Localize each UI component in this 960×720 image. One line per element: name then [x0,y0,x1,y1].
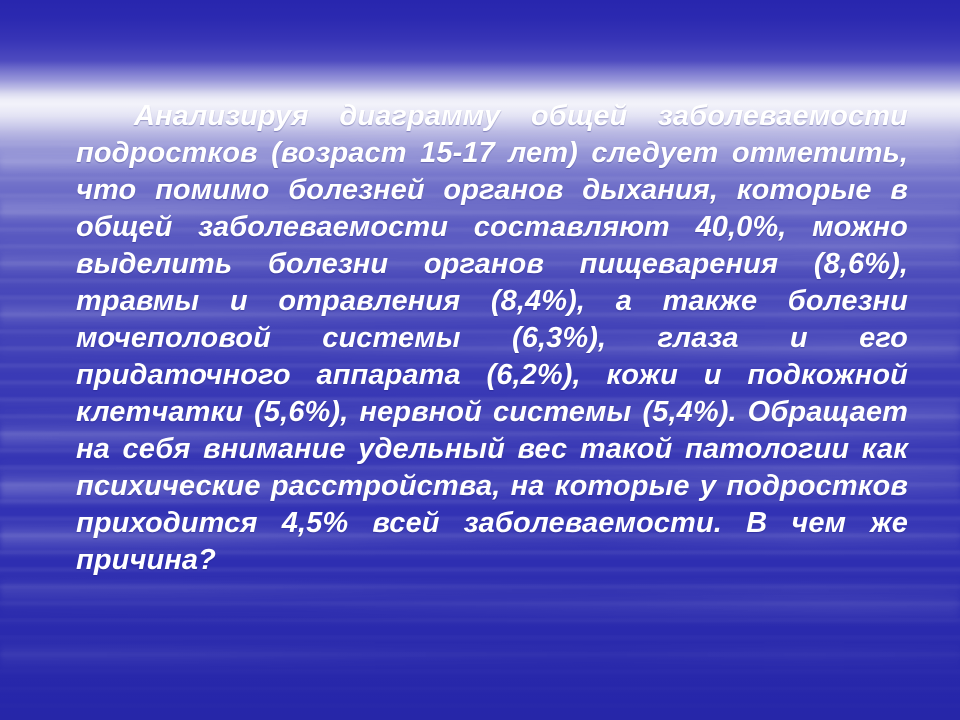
slide-text-block: Анализируя диаграмму общей заболеваемост… [76,98,908,616]
slide-body-paragraph: Анализируя диаграмму общей заболеваемост… [76,98,908,616]
slide-canvas: Анализируя диаграмму общей заболеваемост… [0,0,960,720]
